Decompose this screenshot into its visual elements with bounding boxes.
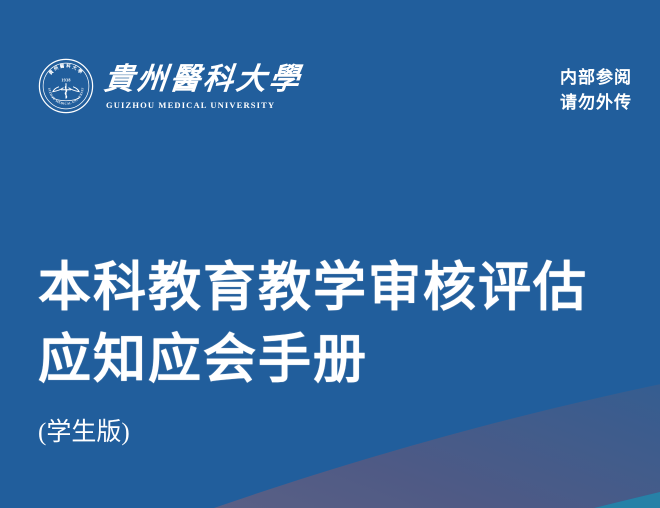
svg-text:貴州醫科大學: 貴州醫科大學 — [47, 62, 85, 76]
university-brand: 貴州醫科大學 GUIZHOU MEDICAL UNIVERSITY 1938 — [38, 58, 302, 114]
university-name-block: 貴州醫科大學 GUIZHOU MEDICAL UNIVERSITY — [104, 62, 302, 109]
university-name-en: GUIZHOU MEDICAL UNIVERSITY — [106, 100, 302, 110]
university-name-cn: 貴州醫科大學 — [102, 64, 303, 96]
notice-line-2: 请勿外传 — [560, 91, 632, 116]
university-seal-icon: 貴州醫科大學 GUIZHOU MEDICAL UNIVERSITY 1938 — [38, 58, 94, 114]
document-cover: 貴州醫科大學 GUIZHOU MEDICAL UNIVERSITY 1938 — [0, 0, 660, 508]
deco-band-teal — [190, 470, 660, 508]
cover-header: 貴州醫科大學 GUIZHOU MEDICAL UNIVERSITY 1938 — [0, 58, 660, 128]
confidentiality-notice: 内部参阅 请勿外传 — [560, 66, 632, 115]
page-title-line-2: 应知应会手册 — [38, 324, 638, 396]
notice-line-1: 内部参阅 — [560, 66, 632, 91]
cover-title-block: 本科教育教学审核评估 应知应会手册 (学生版) — [38, 252, 638, 445]
page-title-line-1: 本科教育教学审核评估 — [38, 252, 638, 324]
svg-text:1938: 1938 — [61, 77, 71, 82]
page-subtitle: (学生版) — [38, 420, 638, 445]
